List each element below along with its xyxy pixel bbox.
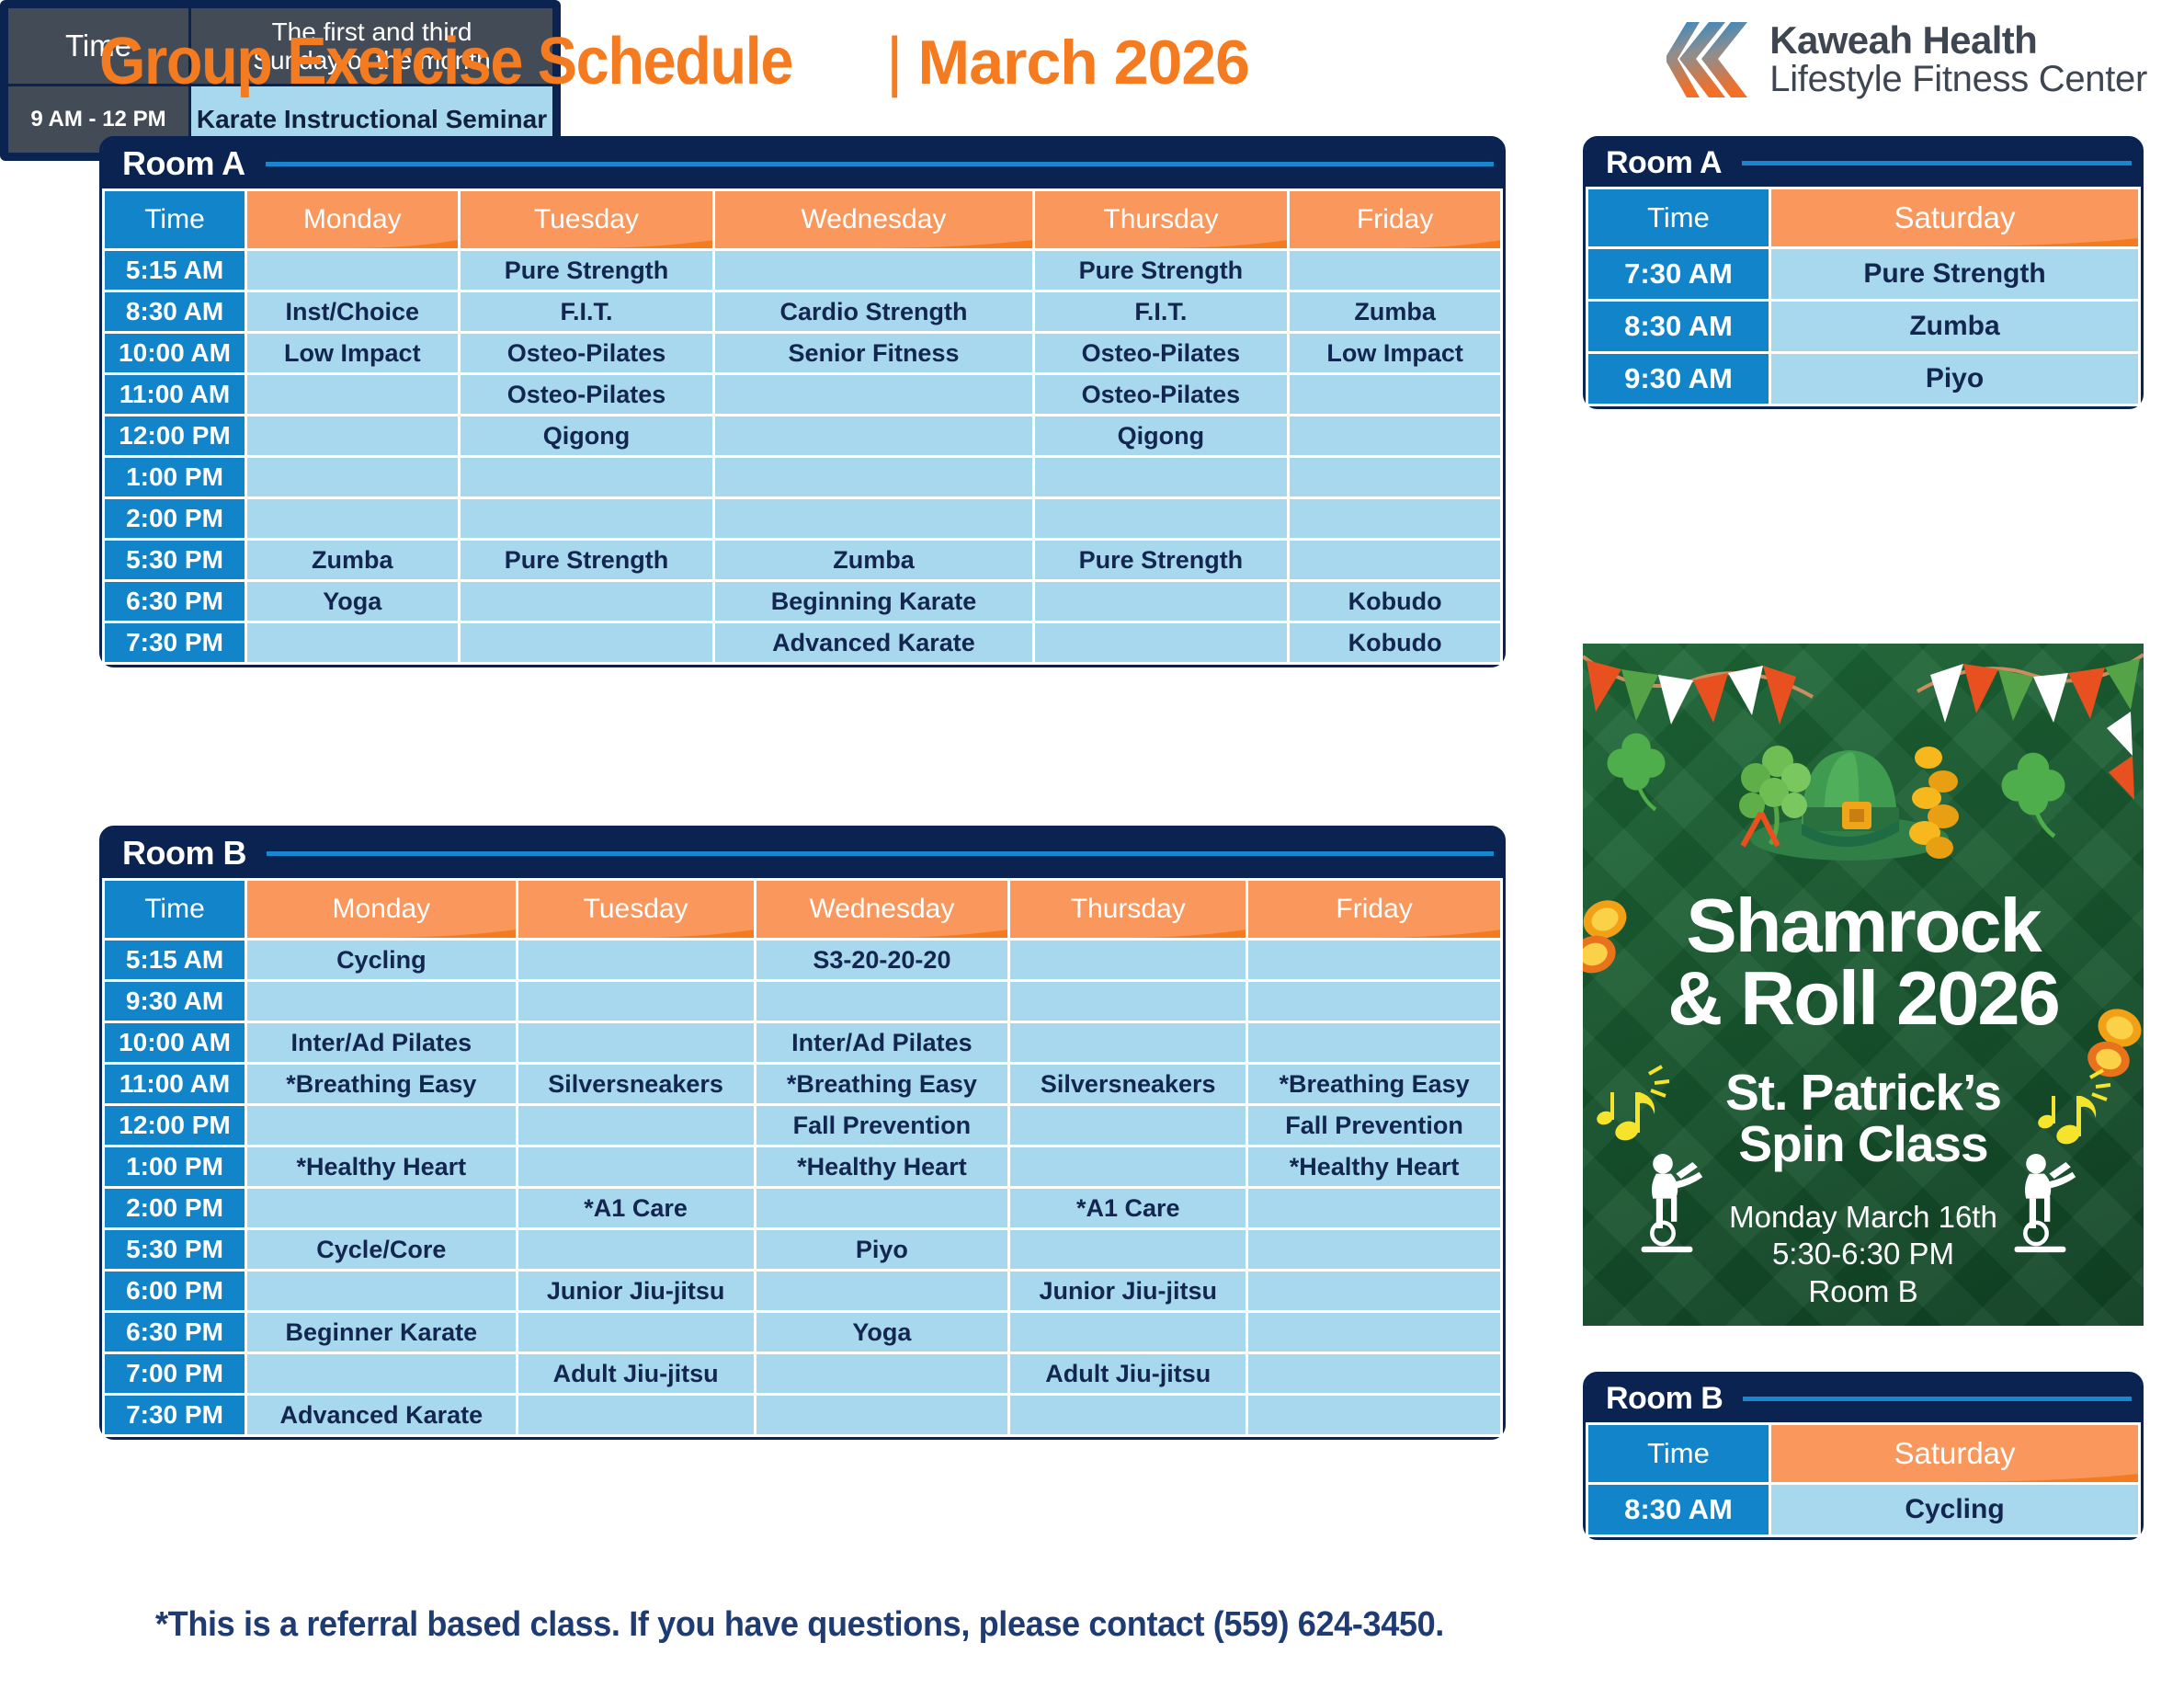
empty-cell [1035, 623, 1288, 662]
table-header-row: Time Saturday [1588, 1425, 2138, 1482]
room-a-label: Room A [122, 144, 245, 183]
class-cell: Kobudo [1290, 623, 1500, 662]
column-header-label: Wednesday [809, 894, 954, 924]
table-row: 11:00 AM*Breathing EasySilversneakers*Br… [105, 1065, 1500, 1103]
empty-cell [518, 1023, 754, 1062]
table-row: 7:00 PMAdult Jiu-jitsuAdult Jiu-jitsu [105, 1354, 1500, 1393]
empty-cell [715, 375, 1031, 414]
room-a-table: TimeMondayTuesdayWednesdayThursdayFriday… [102, 188, 1503, 665]
class-cell: Low Impact [1290, 334, 1500, 372]
column-header-friday: Friday [1290, 191, 1500, 248]
empty-cell [247, 623, 458, 662]
row-time-label: 5:30 PM [105, 541, 245, 579]
title-rule [1743, 1397, 2132, 1401]
class-cell: *A1 Care [1010, 1189, 1246, 1227]
table-header-row: TimeMondayTuesdayWednesdayThursdayFriday [105, 881, 1500, 938]
empty-cell [1248, 982, 1500, 1021]
table-row: 10:00 AMInter/Ad PilatesInter/Ad Pilates [105, 1023, 1500, 1062]
empty-cell [1290, 416, 1500, 455]
empty-cell [715, 416, 1031, 455]
schedule-page: Group Exercise Schedule | March 2026 Kaw… [0, 0, 2184, 1688]
class-cell: Kobudo [1290, 582, 1500, 621]
poster-subtitle-line1: St. Patrick’s [1725, 1064, 2001, 1121]
table-row: 2:00 PM*A1 Care*A1 Care [105, 1189, 1500, 1227]
empty-cell [247, 1106, 516, 1145]
table-row: 5:30 PMZumbaPure StrengthZumbaPure Stren… [105, 541, 1500, 579]
class-cell: Qigong [1035, 416, 1288, 455]
poster-title: Shamrock & Roll 2026 [1583, 890, 2144, 1035]
bunting-left-icon [1583, 656, 1813, 724]
table-row: 7:30 PMAdvanced KarateKobudo [105, 623, 1500, 662]
column-header-tuesday: Tuesday [461, 191, 713, 248]
class-cell: Beginning Karate [715, 582, 1031, 621]
table-row: 5:15 AMCyclingS3-20-20-20 [105, 941, 1500, 979]
class-cell: Zumba [715, 541, 1031, 579]
column-header-thursday: Thursday [1010, 881, 1246, 938]
room-b-label: Room B [122, 834, 246, 873]
empty-cell [247, 499, 458, 538]
row-time-label: 1:00 PM [105, 1147, 245, 1186]
empty-cell [1290, 251, 1500, 290]
row-time-label: 11:00 AM [105, 375, 245, 414]
class-cell: Pure Strength [1771, 249, 2138, 299]
empty-cell [1248, 1230, 1500, 1269]
brand-logo-text: Kaweah Health Lifestyle Fitness Center [1769, 20, 2147, 98]
column-header-saturday: Saturday [1771, 1425, 2138, 1482]
page-title-month: March 2026 [918, 27, 1249, 98]
empty-cell [1035, 499, 1288, 538]
row-time-label: 12:00 PM [105, 416, 245, 455]
empty-cell [1010, 941, 1246, 979]
class-cell: *A1 Care [518, 1189, 754, 1227]
column-header-label: Friday [1357, 204, 1433, 234]
column-header-label: Monday [303, 204, 402, 234]
class-cell: Osteo-Pilates [1035, 375, 1288, 414]
class-cell: Advanced Karate [247, 1396, 516, 1434]
empty-cell [518, 1106, 754, 1145]
empty-cell [1248, 1396, 1500, 1434]
row-time-label: 6:30 PM [105, 1313, 245, 1352]
class-cell: Pure Strength [461, 251, 713, 290]
table-row: 11:00 AMOsteo-PilatesOsteo-Pilates [105, 375, 1500, 414]
poster-detail-time: 5:30-6:30 PM [1583, 1236, 2144, 1272]
column-header-time: Time [105, 881, 245, 938]
column-header-wednesday: Wednesday [756, 881, 1008, 938]
room-a-schedule-panel: Room A TimeMondayTuesdayWednesdayThursda… [99, 136, 1506, 667]
empty-cell [1010, 1106, 1246, 1145]
table-row: 7:30 PMAdvanced Karate [105, 1396, 1500, 1434]
class-cell: Pure Strength [1035, 251, 1288, 290]
class-cell: Junior Jiu-jitsu [1010, 1272, 1246, 1310]
row-time-label: 5:30 PM [105, 1230, 245, 1269]
column-header-label: Tuesday [584, 894, 688, 924]
class-cell: *Healthy Heart [1248, 1147, 1500, 1186]
empty-cell [715, 251, 1031, 290]
table-header-row: TimeMondayTuesdayWednesdayThursdayFriday [105, 191, 1500, 248]
class-cell: Piyo [1771, 354, 2138, 404]
table-row: 12:00 PMQigongQigong [105, 416, 1500, 455]
empty-cell [518, 1396, 754, 1434]
empty-cell [756, 1396, 1008, 1434]
table-row: 6:30 PMYogaBeginning KarateKobudo [105, 582, 1500, 621]
row-time-label: 7:30 AM [1588, 249, 1769, 299]
class-cell: F.I.T. [1035, 292, 1288, 331]
class-cell: Adult Jiu-jitsu [1010, 1354, 1246, 1393]
class-cell: *Healthy Heart [247, 1147, 516, 1186]
empty-cell [1010, 1396, 1246, 1434]
page-title-main: Group Exercise Schedule [99, 24, 792, 99]
table-row: 9:30 AM [105, 982, 1500, 1021]
class-cell: Cycle/Core [247, 1230, 516, 1269]
empty-cell [715, 458, 1031, 496]
room-b-schedule-panel: Room B TimeMondayTuesdayWednesdayThursda… [99, 826, 1506, 1440]
row-time-label: 8:30 AM [105, 292, 245, 331]
title-separator: | [886, 24, 904, 99]
class-cell: *Breathing Easy [247, 1065, 516, 1103]
row-time-label: 7:30 PM [105, 623, 245, 662]
poster-title-line2: & Roll 2026 [1583, 963, 2144, 1035]
empty-cell [756, 1189, 1008, 1227]
class-cell: Osteo-Pilates [1035, 334, 1288, 372]
column-header-monday: Monday [247, 881, 516, 938]
row-time-label: 2:00 PM [105, 1189, 245, 1227]
empty-cell [756, 1354, 1008, 1393]
title-rule [1742, 161, 2132, 165]
class-cell: Yoga [756, 1313, 1008, 1352]
empty-cell [247, 982, 516, 1021]
room-b-title-bar: Room B [102, 828, 1503, 878]
class-cell: Silversneakers [518, 1065, 754, 1103]
table-row: 12:00 PMFall PreventionFall Prevention [105, 1106, 1500, 1145]
column-header-friday: Friday [1248, 881, 1500, 938]
shamrock-and-roll-poster: Shamrock & Roll 2026 St. Patrick’s Spin … [1583, 644, 2144, 1326]
shamrock-right-icon [2002, 753, 2065, 837]
column-header-tuesday: Tuesday [518, 881, 754, 938]
empty-cell [715, 499, 1031, 538]
empty-cell [1248, 1313, 1500, 1352]
class-cell: *Breathing Easy [1248, 1065, 1500, 1103]
brand-logo: Kaweah Health Lifestyle Fitness Center [1666, 20, 2147, 99]
column-header-monday: Monday [247, 191, 458, 248]
class-cell: Cycling [1771, 1485, 2138, 1534]
table-row: 6:30 PMBeginner KarateYoga [105, 1313, 1500, 1352]
empty-cell [1035, 582, 1288, 621]
row-time-label: 11:00 AM [105, 1065, 245, 1103]
empty-cell [1010, 982, 1246, 1021]
empty-cell [1010, 1230, 1246, 1269]
class-cell: Zumba [1771, 302, 2138, 351]
row-time-label: 6:00 PM [105, 1272, 245, 1310]
column-header-thursday: Thursday [1035, 191, 1288, 248]
class-cell: Cycling [247, 941, 516, 979]
row-time-label: 7:00 PM [105, 1354, 245, 1393]
column-header-time: Time [105, 191, 245, 248]
page-title: Group Exercise Schedule | March 2026 [99, 24, 1249, 99]
table-row: 2:00 PM [105, 499, 1500, 538]
column-header-time: Time [1588, 189, 1769, 246]
empty-cell [756, 1272, 1008, 1310]
table-row: 8:30 AMZumba [1588, 302, 2138, 351]
class-cell: Yoga [247, 582, 458, 621]
empty-cell [247, 251, 458, 290]
class-cell: Junior Jiu-jitsu [518, 1272, 754, 1310]
column-header-label: Friday [1336, 894, 1412, 924]
class-cell: Silversneakers [1010, 1065, 1246, 1103]
column-header-label: Tuesday [534, 204, 639, 234]
empty-cell [1248, 941, 1500, 979]
row-time-label: 9:30 AM [105, 982, 245, 1021]
empty-cell [1248, 1189, 1500, 1227]
class-cell: Fall Prevention [756, 1106, 1008, 1145]
class-cell: Qigong [461, 416, 713, 455]
empty-cell [247, 1272, 516, 1310]
saturday-room-a-table: Time Saturday 7:30 AMPure Strength8:30 A… [1586, 187, 2141, 406]
table-row: 5:30 PMCycle/CorePiyo [105, 1230, 1500, 1269]
empty-cell [247, 1354, 516, 1393]
gold-coins-icon [1909, 747, 1959, 859]
class-cell: Zumba [247, 541, 458, 579]
row-time-label: 7:30 PM [105, 1396, 245, 1434]
row-time-label: 8:30 AM [1588, 302, 1769, 351]
empty-cell [1010, 1023, 1246, 1062]
class-cell: Piyo [756, 1230, 1008, 1269]
poster-subtitle-line2: Spin Class [1583, 1118, 2144, 1169]
empty-cell [518, 1147, 754, 1186]
empty-cell [1290, 499, 1500, 538]
empty-cell [1290, 541, 1500, 579]
title-rule [266, 162, 1494, 166]
empty-cell [461, 458, 713, 496]
empty-cell [1010, 1147, 1246, 1186]
empty-cell [461, 499, 713, 538]
saturday-room-a-title-bar: Room A [1586, 139, 2141, 187]
empty-cell [247, 416, 458, 455]
class-cell: S3-20-20-20 [756, 941, 1008, 979]
saturday-room-a-label: Room A [1606, 145, 1722, 181]
poster-artwork: Shamrock & Roll 2026 St. Patrick’s Spin … [1583, 644, 2144, 1326]
poster-details: Monday March 16th 5:30-6:30 PM Room B [1583, 1199, 2144, 1310]
class-cell: Beginner Karate [247, 1313, 516, 1352]
empty-cell [518, 1230, 754, 1269]
empty-cell [1290, 375, 1500, 414]
empty-cell [518, 1313, 754, 1352]
table-header-row: Time Saturday [1588, 189, 2138, 246]
shamrock-left-icon [1608, 734, 1666, 810]
brand-name: Kaweah Health [1769, 20, 2147, 61]
brand-tagline: Lifestyle Fitness Center [1769, 61, 2147, 99]
class-cell: Zumba [1290, 292, 1500, 331]
table-row: 8:30 AMCycling [1588, 1485, 2138, 1534]
referral-footnote: *This is a referral based class. If you … [40, 1605, 1560, 1645]
room-a-title-bar: Room A [102, 139, 1503, 188]
class-cell: Osteo-Pilates [461, 375, 713, 414]
class-cell: Senior Fitness [715, 334, 1031, 372]
empty-cell [247, 1189, 516, 1227]
class-cell: Low Impact [247, 334, 458, 372]
row-time-label: 10:00 AM [105, 334, 245, 372]
table-row: 5:15 AMPure StrengthPure Strength [105, 251, 1500, 290]
row-time-label: 5:15 AM [105, 251, 245, 290]
saturday-room-b-table: Time Saturday 8:30 AMCycling [1586, 1422, 2141, 1537]
row-time-label: 10:00 AM [105, 1023, 245, 1062]
row-time-label: 12:00 PM [105, 1106, 245, 1145]
row-time-label: 2:00 PM [105, 499, 245, 538]
poster-detail-date: Monday March 16th [1583, 1199, 2144, 1236]
saturday-room-b-panel: Room B Time Saturday 8:30 AMCycling [1583, 1372, 2144, 1540]
saturday-room-b-title-bar: Room B [1586, 1374, 2141, 1422]
empty-cell [1248, 1023, 1500, 1062]
class-cell: Advanced Karate [715, 623, 1031, 662]
class-cell: Cardio Strength [715, 292, 1031, 331]
table-row: 8:30 AMInst/ChoiceF.I.T.Cardio StrengthF… [105, 292, 1500, 331]
poster-detail-room: Room B [1583, 1273, 2144, 1310]
column-header-saturday-label: Saturday [1894, 1436, 2015, 1470]
room-b-table: TimeMondayTuesdayWednesdayThursdayFriday… [102, 878, 1503, 1437]
row-time-label: 8:30 AM [1588, 1485, 1769, 1534]
column-header-label: Thursday [1071, 894, 1186, 924]
empty-cell [247, 375, 458, 414]
kaweah-chevron-icon [1666, 20, 1755, 99]
empty-cell [518, 941, 754, 979]
column-header-label: Monday [332, 894, 430, 924]
column-header-label: Thursday [1103, 204, 1218, 234]
class-cell: Inst/Choice [247, 292, 458, 331]
table-row: 1:00 PM [105, 458, 1500, 496]
empty-cell [461, 582, 713, 621]
row-time-label: 9:30 AM [1588, 354, 1769, 404]
column-header-saturday-label: Saturday [1894, 200, 2015, 234]
column-header-saturday: Saturday [1771, 189, 2138, 246]
class-cell: *Healthy Heart [756, 1147, 1008, 1186]
class-cell: Osteo-Pilates [461, 334, 713, 372]
table-row: 6:00 PMJunior Jiu-jitsuJunior Jiu-jitsu [105, 1272, 1500, 1310]
poster-subtitle: St. Patrick’s Spin Class [1583, 1066, 2144, 1169]
empty-cell [1248, 1354, 1500, 1393]
class-cell: Adult Jiu-jitsu [518, 1354, 754, 1393]
table-row: 10:00 AMLow ImpactOsteo-PilatesSenior Fi… [105, 334, 1500, 372]
empty-cell [756, 982, 1008, 1021]
column-header-label: Wednesday [802, 204, 947, 234]
class-cell: *Breathing Easy [756, 1065, 1008, 1103]
class-cell: Pure Strength [1035, 541, 1288, 579]
class-cell: Pure Strength [461, 541, 713, 579]
empty-cell [461, 623, 713, 662]
class-cell: Fall Prevention [1248, 1106, 1500, 1145]
empty-cell [1248, 1272, 1500, 1310]
column-header-wednesday: Wednesday [715, 191, 1031, 248]
class-cell: F.I.T. [461, 292, 713, 331]
column-header-time: Time [1588, 1425, 1769, 1482]
table-row: 9:30 AMPiyo [1588, 354, 2138, 404]
empty-cell [518, 982, 754, 1021]
empty-cell [1010, 1313, 1246, 1352]
table-row: 7:30 AMPure Strength [1588, 249, 2138, 299]
title-rule [267, 851, 1494, 856]
row-time-label: 6:30 PM [105, 582, 245, 621]
class-cell: Inter/Ad Pilates [756, 1023, 1008, 1062]
empty-cell [1290, 458, 1500, 496]
saturday-room-a-panel: Room A Time Saturday 7:30 AMPure Strengt… [1583, 136, 2144, 409]
row-time-label: 1:00 PM [105, 458, 245, 496]
row-time-label: 5:15 AM [105, 941, 245, 979]
class-cell: Inter/Ad Pilates [247, 1023, 516, 1062]
table-row: 1:00 PM*Healthy Heart*Healthy Heart*Heal… [105, 1147, 1500, 1186]
empty-cell [1035, 458, 1288, 496]
empty-cell [247, 458, 458, 496]
saturday-room-b-label: Room B [1606, 1381, 1723, 1417]
